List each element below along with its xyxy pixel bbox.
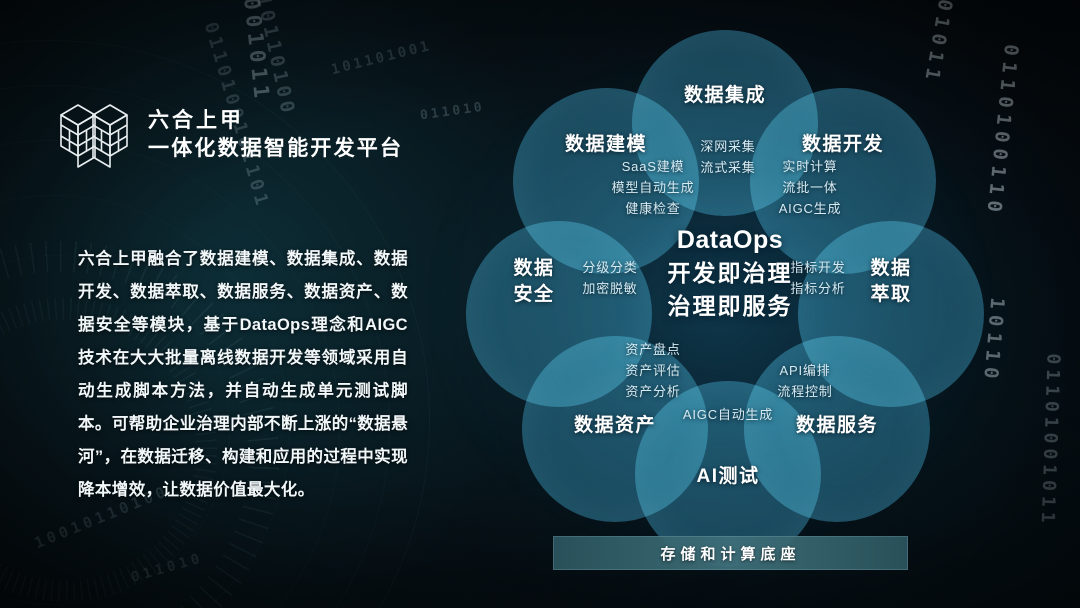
brand-name: 六合上甲 (148, 108, 403, 135)
sub-item: 资产分析 (598, 381, 708, 402)
base-bar-label: 存储和计算底座 (660, 543, 800, 564)
label-data-security: 数据 安全 (499, 256, 569, 308)
brick-wall-logo-icon (58, 96, 130, 176)
sub-item: 资产盘点 (598, 339, 708, 360)
subs-data-development: 实时计算 流批一体 AIGC生成 (750, 156, 870, 219)
sub-item: 模型自动生成 (593, 177, 713, 198)
label-data-security-line2: 安全 (499, 282, 569, 308)
brand-tagline: 一体化数据智能开发平台 (148, 135, 403, 163)
label-data-development: 数据开发 (783, 129, 903, 156)
core-cn-line-2: 治理即服务 (590, 290, 870, 323)
product-description: 六合上甲融合了数据建模、数据集成、数据开发、数据萃取、数据服务、数据资产、数据安… (78, 243, 408, 507)
core-en-label: DataOps (590, 224, 870, 257)
subs-ai-test: AIGC自动生成 (668, 404, 788, 425)
brand-text: 六合上甲 一体化数据智能开发平台 (148, 108, 403, 163)
sub-item: SaaS建模 (593, 156, 713, 177)
brand-block: 六合上甲 一体化数据智能开发平台 (58, 96, 403, 176)
capability-venn-diagram: 数据集成 数据建模 数据开发 数据 安全 数据 萃取 数据资产 数据服务 AI测… (450, 6, 1010, 536)
core-cn-line-1: 开发即治理 (590, 257, 870, 290)
sub-item: 流批一体 (750, 177, 870, 198)
sub-item: AIGC生成 (750, 198, 870, 219)
label-ai-test: AI测试 (668, 461, 788, 488)
sub-item: 健康检查 (593, 198, 713, 219)
subs-data-asset: 资产盘点 资产评估 资产分析 (598, 339, 708, 402)
sub-item: 流程控制 (750, 381, 860, 402)
label-data-integration: 数据集成 (665, 80, 785, 107)
sub-item: AIGC自动生成 (668, 404, 788, 425)
label-data-service: 数据服务 (777, 410, 897, 437)
sub-item: 资产评估 (598, 360, 708, 381)
storage-compute-foundation-bar: 存储和计算底座 (553, 536, 908, 570)
subs-data-modeling: SaaS建模 模型自动生成 健康检查 (593, 156, 713, 219)
sub-item: API编排 (750, 360, 860, 381)
sub-item: 深网采集 (668, 136, 788, 157)
label-data-modeling: 数据建模 (546, 129, 666, 156)
left-info-panel: 六合上甲 一体化数据智能开发平台 六合上甲融合了数据建模、数据集成、数据开发、数… (0, 0, 450, 608)
subs-data-service: API编排 流程控制 (750, 360, 860, 402)
sub-item: 实时计算 (750, 156, 870, 177)
label-data-asset: 数据资产 (555, 410, 675, 437)
label-data-security-line1: 数据 (499, 256, 569, 282)
core-concept: DataOps 开发即治理 治理即服务 (590, 224, 870, 323)
